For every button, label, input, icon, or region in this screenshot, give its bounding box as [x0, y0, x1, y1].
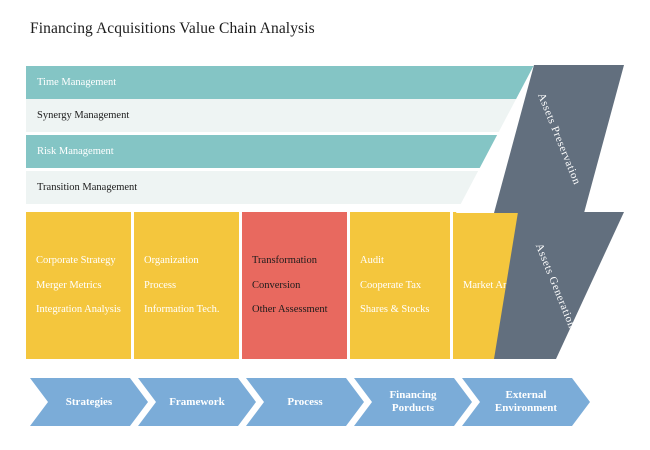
band-synergy-management[interactable]: Synergy Management — [26, 99, 534, 132]
column-item: Shares & Stocks — [360, 304, 450, 316]
column-item: Transformation — [252, 255, 347, 267]
column-framework[interactable]: Organization Process Information Tech. — [134, 212, 239, 359]
column-item: Conversion — [252, 280, 347, 292]
step-external-environment[interactable]: External Environment — [462, 378, 590, 426]
step-financing-products[interactable]: Financing Porducts — [354, 378, 472, 426]
column-item: Merger Metrics — [36, 280, 131, 292]
step-label-line2: Environment — [495, 402, 557, 414]
step-strategies[interactable]: Strategies — [30, 378, 148, 426]
column-item: Cooperate Tax — [360, 280, 450, 292]
diagram-canvas: Financing Acquisitions Value Chain Analy… — [0, 0, 650, 450]
column-item: Process — [144, 280, 239, 292]
step-label-line1: Framework — [169, 396, 225, 408]
column-item: Information Tech. — [144, 304, 239, 316]
band-time-management[interactable]: Time Management — [26, 66, 534, 99]
step-label-line1: Process — [287, 396, 322, 408]
column-item: Other Assessment — [252, 304, 347, 316]
step-label-line1: Financing — [389, 389, 436, 401]
arrow-label: Assets Generation — [533, 241, 578, 329]
page-title: Financing Acquisitions Value Chain Analy… — [30, 20, 315, 38]
column-item: Organization — [144, 255, 239, 267]
column-item: Corporate Strategy — [36, 255, 131, 267]
band-label: Transition Management — [37, 182, 137, 193]
arrow-label: Assets Preservation — [535, 91, 583, 186]
step-label-line2: Porducts — [392, 402, 434, 414]
capability-columns: Corporate Strategy Merger Metrics Integr… — [26, 212, 556, 359]
band-label: Time Management — [37, 77, 116, 88]
band-label: Risk Management — [37, 146, 114, 157]
column-financing-products[interactable]: Audit Cooperate Tax Shares & Stocks — [350, 212, 450, 359]
step-label-line1: External — [506, 389, 547, 401]
step-framework[interactable]: Framework — [138, 378, 256, 426]
column-process[interactable]: Transformation Conversion Other Assessme… — [242, 212, 347, 359]
process-step-sequence: Strategies Framework Process Financing P… — [30, 378, 622, 426]
column-item: Audit — [360, 255, 450, 267]
step-label-line1: Strategies — [66, 396, 112, 408]
band-risk-management[interactable]: Risk Management — [26, 135, 534, 168]
band-transition-management[interactable]: Transition Management — [26, 171, 534, 204]
column-item: Integration Analysis — [36, 304, 131, 316]
column-strategies[interactable]: Corporate Strategy Merger Metrics Integr… — [26, 212, 131, 359]
value-chain-diagram: Time Management Synergy Management Risk … — [26, 66, 624, 376]
step-process[interactable]: Process — [246, 378, 364, 426]
band-label: Synergy Management — [37, 110, 129, 121]
